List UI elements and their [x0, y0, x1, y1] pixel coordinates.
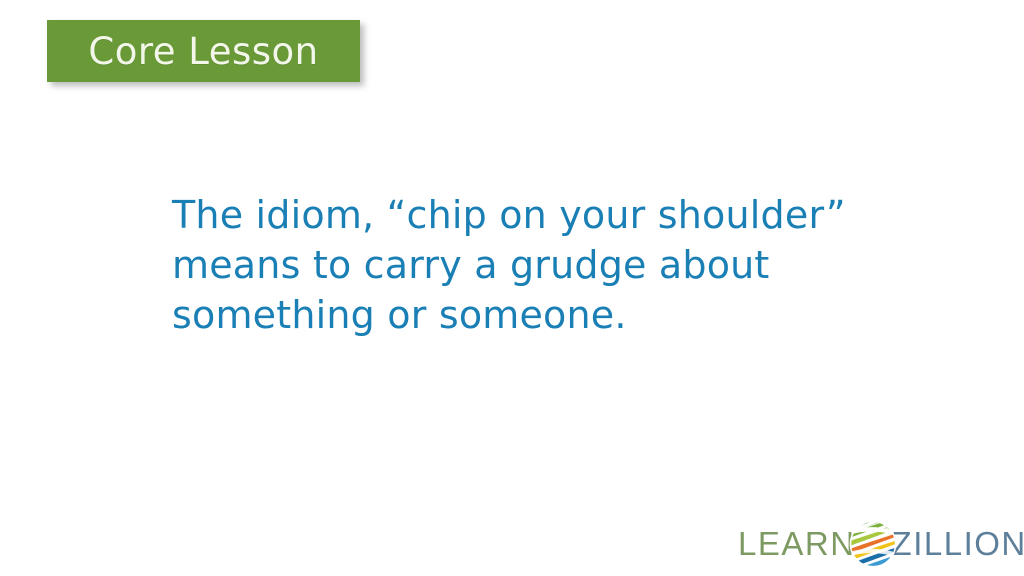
globe-icon: [849, 520, 897, 568]
slide-canvas: Core Lesson The idiom, “chip on your sho…: [0, 0, 1024, 576]
core-lesson-banner: Core Lesson: [47, 20, 360, 82]
lesson-body-line-3: something or someone.: [172, 290, 972, 340]
logo-word-learn: LEARN: [738, 527, 856, 560]
lesson-body-text: The idiom, “chip on your shoulder” means…: [172, 190, 972, 340]
learnzillion-logo: LEARN: [738, 518, 1018, 568]
lesson-body-line-2: means to carry a grudge about: [172, 240, 972, 290]
lesson-body-line-1: The idiom, “chip on your shoulder”: [172, 190, 972, 240]
core-lesson-banner-label: Core Lesson: [88, 33, 318, 70]
logo-word-zillion: ZILLION: [892, 527, 1024, 560]
